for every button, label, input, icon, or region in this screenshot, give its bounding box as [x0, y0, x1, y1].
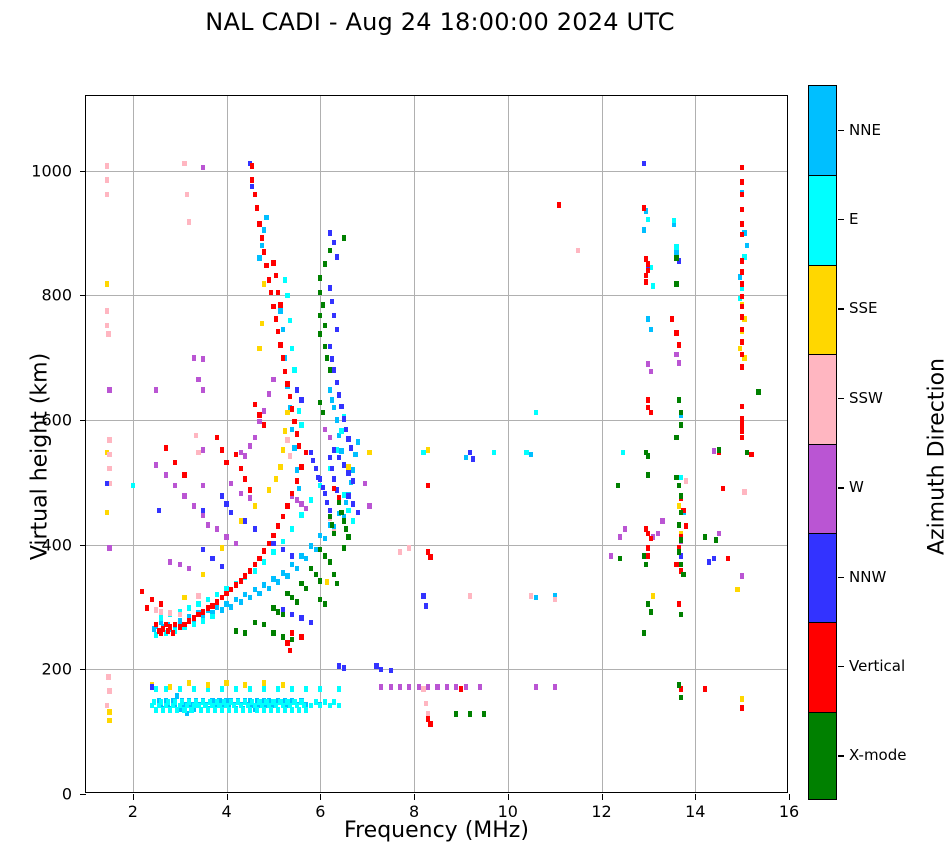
- gridline-vertical: [602, 96, 603, 792]
- echo-point-vertical: [248, 568, 252, 574]
- echo-point-w: [173, 483, 177, 489]
- echo-point-nnw: [243, 518, 247, 524]
- echo-point-vertical: [192, 615, 196, 621]
- echo-point-sse: [367, 450, 371, 456]
- echo-point-w: [363, 481, 367, 487]
- echo-point-w: [192, 355, 196, 361]
- echo-point-e: [234, 686, 238, 692]
- gridline-vertical: [133, 96, 134, 792]
- echo-point-vertical: [740, 258, 744, 264]
- echo-point-x-mode: [309, 566, 313, 572]
- x-axis-label: Frequency (MHz): [85, 818, 788, 843]
- echo-point-vertical: [220, 447, 224, 453]
- echo-point-sse: [201, 572, 205, 578]
- echo-point-ssw: [107, 437, 111, 443]
- echo-point-nnw: [330, 299, 334, 305]
- echo-point-nne: [290, 562, 294, 568]
- echo-point-ssw: [105, 308, 109, 314]
- echo-point-e: [299, 512, 303, 518]
- gridline-horizontal: [86, 171, 787, 172]
- echo-point-ssw: [105, 703, 109, 709]
- echo-point-nne: [529, 452, 533, 458]
- echo-point-vertical: [224, 591, 228, 597]
- echo-point-w: [553, 684, 557, 690]
- colorbar-label-e: E: [849, 210, 858, 228]
- echo-point-nnw: [328, 285, 332, 291]
- echo-point-e: [276, 686, 280, 692]
- echo-point-w: [445, 684, 449, 690]
- echo-point-w: [646, 361, 650, 367]
- echo-point-e: [248, 686, 252, 692]
- echo-point-nnw: [314, 466, 318, 472]
- x-tick: [133, 794, 134, 800]
- echo-point-nnw: [349, 445, 353, 451]
- echo-point-x-mode: [642, 553, 646, 559]
- y-tick: [80, 295, 86, 296]
- echo-point-nne: [335, 417, 339, 423]
- echo-point-sse: [677, 503, 681, 509]
- echo-point-e: [201, 618, 205, 624]
- echo-point-x-mode: [342, 518, 346, 524]
- echo-point-vertical: [740, 352, 744, 358]
- echo-point-nne: [649, 327, 653, 333]
- echo-point-vertical: [740, 416, 744, 422]
- colorbar-segment-nnw: [809, 533, 836, 622]
- echo-point-ssw: [107, 452, 111, 458]
- echo-point-e: [679, 475, 683, 481]
- echo-point-vertical: [646, 553, 650, 559]
- echo-point-w: [248, 443, 252, 449]
- echo-point-nne: [220, 607, 224, 613]
- echo-point-ssw: [178, 612, 182, 618]
- echo-point-e: [524, 450, 528, 456]
- echo-point-nne: [295, 467, 299, 473]
- echo-point-nnw: [328, 455, 332, 461]
- echo-point-sse: [260, 321, 264, 327]
- echo-point-w: [201, 387, 205, 393]
- echo-point-nne: [332, 405, 336, 411]
- echo-point-vertical: [276, 329, 280, 335]
- colorbar-segment-sse: [809, 265, 836, 354]
- echo-point-e: [210, 614, 214, 620]
- echo-point-nnw: [379, 667, 383, 673]
- echo-point-vertical: [428, 721, 432, 727]
- echo-point-x-mode: [677, 682, 681, 688]
- echo-point-nne: [262, 582, 266, 588]
- echo-point-e: [621, 450, 625, 456]
- echo-point-w: [656, 531, 660, 537]
- echo-point-nne: [243, 592, 247, 598]
- echo-point-vertical: [726, 556, 730, 562]
- echo-point-nnw: [309, 450, 313, 456]
- echo-point-vertical: [145, 605, 149, 611]
- echo-point-x-mode: [318, 578, 322, 584]
- echo-point-nnw: [229, 510, 233, 516]
- colorbar-tick: [838, 755, 844, 756]
- echo-point-w: [239, 450, 243, 456]
- echo-point-x-mode: [323, 553, 327, 559]
- echo-point-nne: [292, 445, 296, 451]
- echo-point-e: [283, 707, 287, 713]
- echo-point-x-mode: [318, 331, 322, 337]
- echo-point-sse: [262, 281, 266, 287]
- echo-point-vertical: [649, 410, 653, 416]
- echo-point-w: [609, 553, 613, 559]
- echo-point-vertical: [649, 536, 653, 542]
- plot-area: [86, 96, 787, 792]
- plot-axes: 24681012141602004006008001000: [85, 95, 788, 793]
- echo-point-e: [646, 217, 650, 223]
- echo-point-e: [318, 703, 322, 709]
- echo-point-vertical: [248, 487, 252, 493]
- echo-point-e: [159, 615, 163, 621]
- echo-point-nne: [534, 595, 538, 601]
- echo-point-nne: [278, 308, 282, 314]
- echo-point-vertical: [271, 304, 275, 310]
- echo-point-x-mode: [328, 514, 332, 520]
- x-tick: [602, 794, 603, 800]
- echo-point-vertical: [173, 622, 177, 628]
- echo-point-x-mode: [328, 559, 332, 565]
- echo-point-nne: [674, 249, 678, 255]
- echo-point-nnw: [316, 475, 320, 481]
- echo-point-vertical: [281, 514, 285, 520]
- echo-point-w: [323, 427, 327, 433]
- echo-point-e: [299, 422, 303, 428]
- echo-point-vertical: [740, 435, 744, 441]
- echo-point-e: [220, 686, 224, 692]
- echo-point-e: [290, 526, 294, 532]
- echo-point-x-mode: [646, 601, 650, 607]
- echo-point-nnw: [337, 663, 341, 669]
- echo-point-w: [417, 684, 421, 690]
- page-title: NAL CADI - Aug 24 18:00:00 2024 UTC: [0, 8, 880, 36]
- echo-point-sse: [253, 503, 257, 509]
- echo-point-vertical: [206, 605, 210, 611]
- echo-point-x-mode: [290, 637, 294, 643]
- echo-point-e: [248, 707, 252, 713]
- echo-point-sse: [281, 447, 285, 453]
- echo-point-vertical: [150, 597, 154, 603]
- echo-point-nne: [257, 255, 261, 261]
- echo-point-w: [243, 453, 247, 459]
- echo-point-vertical: [740, 179, 744, 185]
- echo-point-nnw: [224, 501, 228, 507]
- echo-point-e: [297, 707, 301, 713]
- echo-point-vertical: [304, 450, 308, 456]
- y-tick: [80, 545, 86, 546]
- echo-point-e: [672, 218, 676, 224]
- echo-point-e: [281, 539, 285, 545]
- echo-point-x-mode: [328, 248, 332, 254]
- echo-point-x-mode: [271, 630, 275, 636]
- echo-point-vertical: [276, 523, 280, 529]
- echo-point-vertical: [670, 316, 674, 322]
- echo-point-nnw: [342, 665, 346, 671]
- echo-point-w: [618, 534, 622, 540]
- echo-point-w: [187, 566, 191, 572]
- echo-point-x-mode: [243, 630, 247, 636]
- echo-point-ssw: [154, 607, 158, 613]
- colorbar-divider: [809, 712, 836, 713]
- colorbar-label-nne: NNE: [849, 121, 881, 139]
- echo-point-vertical: [295, 431, 299, 437]
- echo-point-vertical: [740, 705, 744, 711]
- gridline-vertical: [695, 96, 696, 792]
- echo-point-vertical: [215, 435, 219, 441]
- colorbar-title: Azimuth Direction: [925, 277, 950, 637]
- echo-point-vertical: [285, 381, 289, 387]
- echo-point-ssw: [105, 192, 109, 198]
- echo-point-ssw: [576, 248, 580, 254]
- echo-point-nne: [351, 467, 355, 473]
- echo-point-nnw: [707, 559, 711, 565]
- echo-point-nnw: [330, 466, 334, 472]
- echo-point-sse: [283, 428, 287, 434]
- echo-point-w: [478, 684, 482, 690]
- gridline-horizontal: [86, 669, 787, 670]
- echo-point-ssw: [424, 701, 428, 707]
- echo-point-nnw: [328, 344, 332, 350]
- echo-point-nnw: [290, 553, 294, 559]
- gridline-horizontal: [86, 295, 787, 296]
- echo-point-ssw: [182, 161, 186, 167]
- echo-point-ssw: [288, 453, 292, 459]
- colorbar-label-nnw: NNW: [849, 568, 886, 586]
- echo-point-e: [304, 686, 308, 692]
- echo-point-e: [262, 707, 266, 713]
- echo-point-nnw: [339, 404, 343, 410]
- echo-point-nnw: [335, 380, 339, 386]
- echo-point-w: [677, 360, 681, 366]
- echo-point-w: [215, 526, 219, 532]
- echo-point-w: [201, 356, 205, 362]
- echo-point-e: [318, 686, 322, 692]
- echo-point-vertical: [178, 624, 182, 630]
- echo-point-nnw: [332, 447, 336, 453]
- echo-point-nnw: [356, 510, 360, 516]
- echo-point-vertical: [703, 686, 707, 692]
- echo-point-nne: [260, 243, 264, 249]
- echo-point-ssw: [529, 593, 533, 599]
- colorbar-segment-ssw: [809, 354, 836, 443]
- echo-point-sse: [168, 684, 172, 690]
- echo-point-vertical: [646, 545, 650, 551]
- echo-point-nnw: [311, 458, 315, 464]
- echo-point-nne: [276, 579, 280, 585]
- echo-point-vertical: [642, 205, 646, 211]
- colorbar-segment-vertical: [809, 622, 836, 711]
- echo-point-x-mode: [646, 472, 650, 478]
- echo-point-w: [239, 491, 243, 497]
- echo-point-vertical: [644, 279, 648, 285]
- echo-point-vertical: [253, 562, 257, 568]
- y-tick: [80, 794, 86, 795]
- echo-point-sse: [274, 476, 278, 482]
- echo-point-e: [255, 707, 259, 713]
- echo-point-x-mode: [649, 609, 653, 615]
- echo-point-x-mode: [330, 522, 334, 528]
- echo-point-x-mode: [281, 612, 285, 618]
- echo-point-w: [717, 531, 721, 537]
- echo-point-vertical: [274, 273, 278, 279]
- echo-point-vertical: [297, 443, 301, 449]
- echo-point-vertical: [264, 263, 268, 269]
- echo-point-vertical: [253, 192, 257, 198]
- echo-point-x-mode: [679, 422, 683, 428]
- echo-point-vertical: [674, 330, 678, 336]
- echo-point-nne: [356, 439, 360, 445]
- echo-point-e: [651, 283, 655, 289]
- echo-point-vertical: [740, 422, 744, 428]
- echo-point-e: [285, 293, 289, 299]
- echo-point-e: [206, 597, 210, 603]
- echo-point-vertical: [740, 327, 744, 333]
- echo-point-x-mode: [271, 605, 275, 611]
- echo-point-w: [196, 377, 200, 383]
- echo-point-vertical: [292, 419, 296, 425]
- echo-point-vertical: [182, 472, 186, 478]
- echo-point-nne: [262, 227, 266, 233]
- echo-point-nnw: [271, 541, 275, 547]
- echo-point-ssw: [105, 177, 109, 183]
- echo-point-w: [248, 495, 252, 501]
- echo-point-nnw: [332, 313, 336, 319]
- echo-point-nnw: [471, 456, 475, 462]
- echo-point-vertical: [182, 622, 186, 628]
- echo-point-e: [262, 686, 266, 692]
- echo-point-e: [178, 686, 182, 692]
- colorbar-tick: [838, 219, 844, 220]
- echo-point-e: [173, 699, 177, 705]
- echo-point-e: [227, 707, 231, 713]
- echo-point-w: [389, 684, 393, 690]
- echo-point-vertical: [224, 460, 228, 466]
- echo-point-vertical: [196, 612, 200, 618]
- echo-point-vertical: [295, 478, 299, 484]
- echo-point-e: [297, 408, 301, 414]
- echo-point-vertical: [740, 428, 744, 434]
- echo-point-ssw: [421, 686, 425, 692]
- echo-point-x-mode: [346, 534, 350, 540]
- echo-point-nne: [642, 227, 646, 233]
- echo-point-nnw: [346, 493, 350, 499]
- ionogram-figure: NAL CADI - Aug 24 18:00:00 2024 UTC 2468…: [0, 0, 951, 856]
- echo-point-x-mode: [644, 562, 648, 568]
- echo-point-w: [201, 165, 205, 171]
- echo-point-nnw: [295, 387, 299, 393]
- echo-point-sse: [651, 593, 655, 599]
- echo-point-vertical: [740, 232, 744, 238]
- echo-point-nnw: [299, 397, 303, 403]
- echo-point-sse: [281, 682, 285, 688]
- echo-point-e: [131, 483, 135, 489]
- echo-point-sse: [738, 346, 742, 352]
- echo-point-vertical: [426, 483, 430, 489]
- echo-point-w: [253, 435, 257, 441]
- y-tick-label: 1000: [31, 161, 72, 180]
- echo-point-vertical: [159, 601, 163, 607]
- echo-point-e: [323, 699, 327, 705]
- echo-point-e: [288, 318, 292, 324]
- echo-point-vertical: [749, 452, 753, 458]
- echo-point-vertical: [740, 281, 744, 287]
- echo-point-x-mode: [332, 572, 336, 578]
- echo-point-nnw: [332, 367, 336, 373]
- echo-point-vertical: [171, 630, 175, 636]
- echo-point-w: [107, 387, 111, 393]
- echo-point-nne: [738, 274, 742, 280]
- echo-point-nne: [267, 586, 271, 592]
- echo-point-e: [534, 410, 538, 416]
- colorbar: [808, 85, 837, 800]
- echo-point-e: [269, 707, 273, 713]
- echo-point-sse: [239, 518, 243, 524]
- gridline-horizontal: [86, 420, 787, 421]
- echo-point-x-mode: [318, 275, 322, 281]
- echo-point-vertical: [285, 503, 289, 509]
- echo-point-vertical: [740, 404, 744, 410]
- echo-point-nnw: [346, 436, 350, 442]
- echo-point-e: [283, 277, 287, 283]
- echo-point-x-mode: [328, 367, 332, 373]
- echo-point-vertical: [646, 261, 650, 267]
- echo-point-w: [164, 472, 168, 478]
- echo-point-vertical: [428, 554, 432, 560]
- echo-point-x-mode: [318, 290, 322, 296]
- echo-point-e: [215, 592, 219, 598]
- echo-point-w: [674, 352, 678, 358]
- echo-point-e: [309, 703, 313, 709]
- echo-point-vertical: [250, 177, 254, 183]
- echo-point-e: [180, 699, 184, 705]
- echo-point-x-mode: [262, 622, 266, 628]
- echo-point-x-mode: [616, 483, 620, 489]
- echo-point-nne: [281, 570, 285, 576]
- echo-point-nne: [248, 595, 252, 601]
- echo-point-nne: [328, 387, 332, 393]
- echo-point-vertical: [262, 548, 266, 554]
- echo-point-w: [107, 545, 111, 551]
- echo-point-nnw: [374, 663, 378, 669]
- echo-point-sse: [426, 447, 430, 453]
- echo-point-w: [660, 518, 664, 524]
- echo-point-nnw: [342, 462, 346, 468]
- echo-point-w: [192, 503, 196, 509]
- echo-point-e: [166, 699, 170, 705]
- echo-point-vertical: [278, 302, 282, 308]
- echo-point-x-mode: [646, 453, 650, 459]
- echo-point-e: [159, 699, 163, 705]
- echo-point-nne: [295, 566, 299, 572]
- echo-point-nne: [299, 553, 303, 559]
- echo-point-x-mode: [679, 695, 683, 701]
- echo-point-w: [623, 526, 627, 532]
- echo-point-vertical: [164, 622, 168, 628]
- echo-point-nnw: [299, 615, 303, 621]
- echo-point-x-mode: [318, 400, 322, 406]
- echo-point-vertical: [299, 464, 303, 470]
- echo-point-x-mode: [253, 620, 257, 626]
- echo-point-w: [154, 462, 158, 468]
- echo-point-vertical: [285, 640, 289, 646]
- echo-point-nne: [281, 327, 285, 333]
- echo-point-e: [262, 559, 266, 565]
- echo-point-nnw: [342, 416, 346, 422]
- echo-point-ssw: [285, 437, 289, 443]
- echo-point-x-mode: [314, 572, 318, 578]
- echo-point-nnw: [220, 564, 224, 570]
